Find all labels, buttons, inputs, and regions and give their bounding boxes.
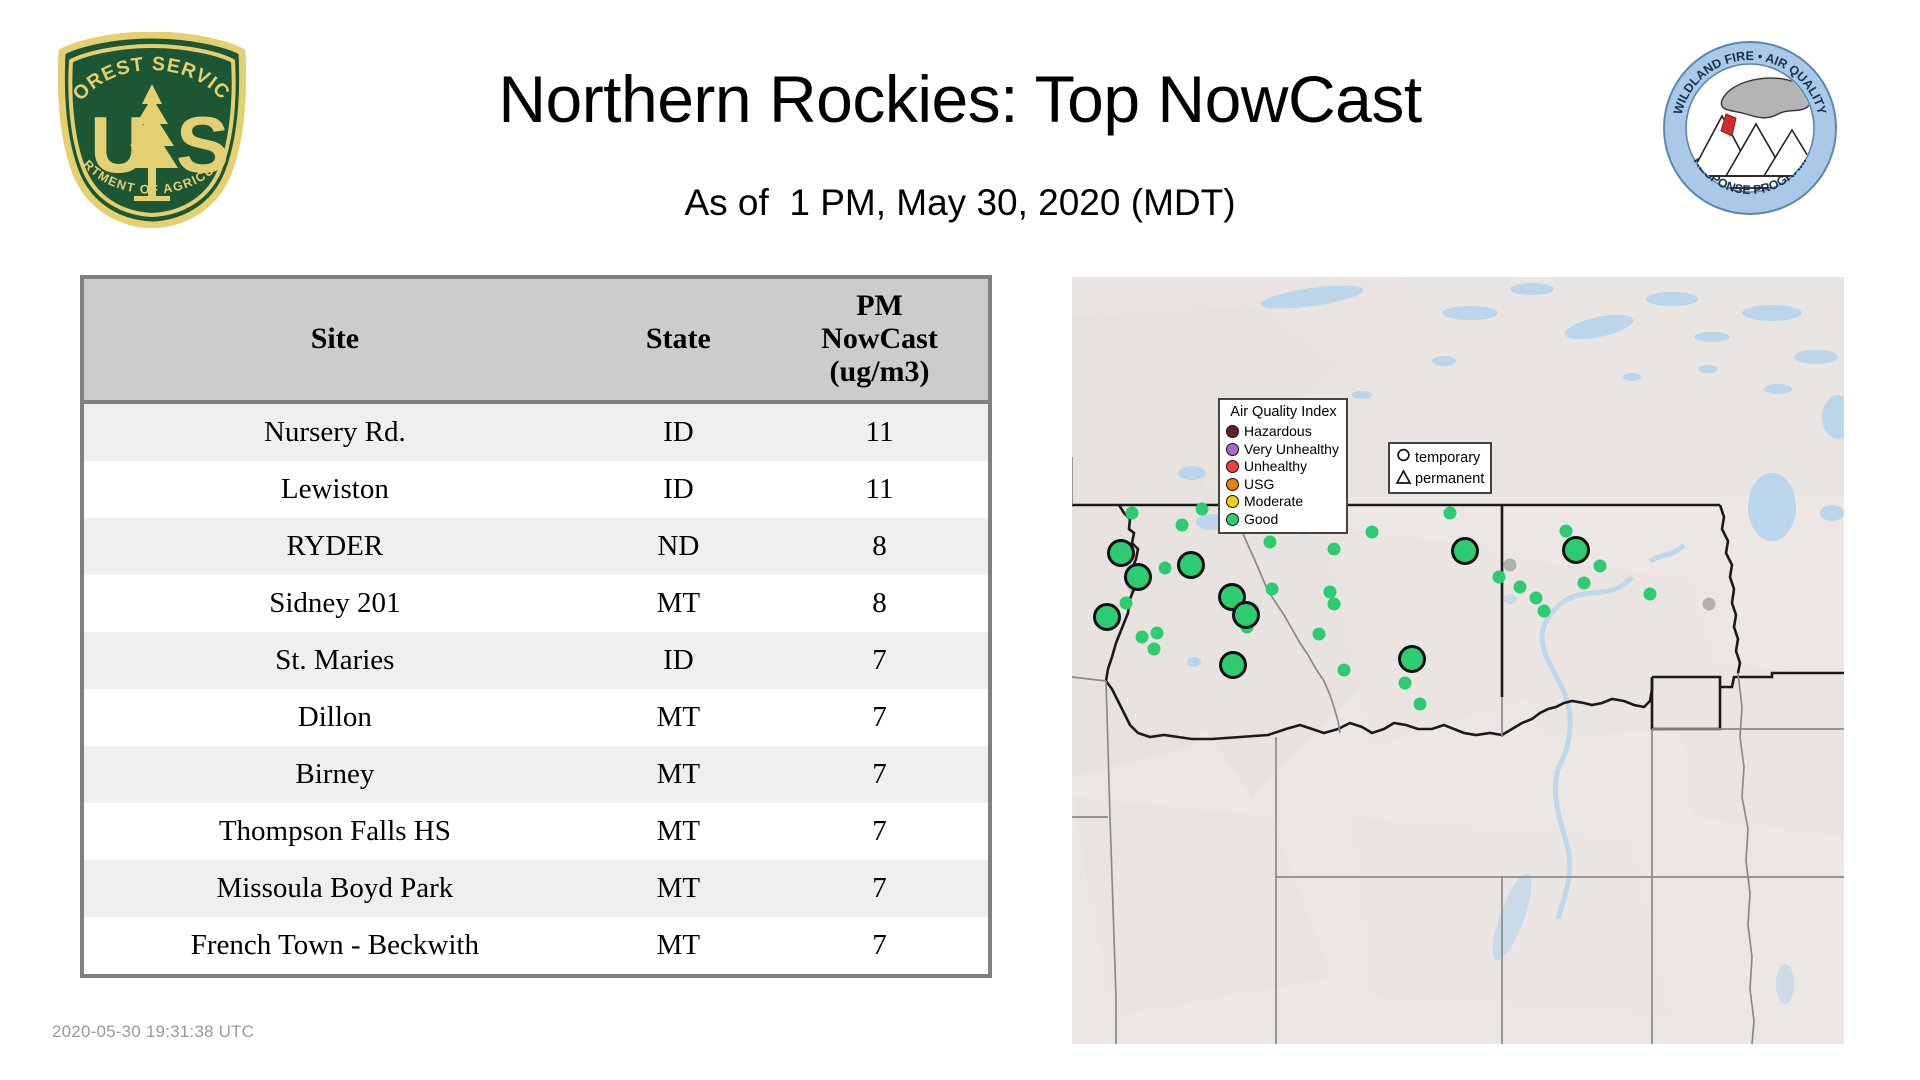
monitor-marker-large[interactable] [1400,647,1425,672]
aqi-legend-item-very-unhealthy: Very Unhealthy [1226,441,1341,459]
monitor-marker-large[interactable] [1564,538,1589,563]
monitor-marker-small[interactable] [1514,581,1527,594]
table-row: Thompson Falls HS MT 7 [84,803,988,860]
page-title: Northern Rockies: Top NowCast [300,60,1620,138]
table-row: Sidney 201 MT 8 [84,575,988,632]
cell-pm: 11 [771,461,988,518]
column-header-site: Site [84,279,586,402]
cell-state: ID [586,402,771,461]
monitor-marker-small[interactable] [1148,643,1161,656]
triangle-icon [1395,469,1412,488]
aqi-legend-item-good: Good [1226,511,1341,529]
cell-site: French Town - Beckwith [84,917,586,974]
table-header-row: Site State PM NowCast (ug/m3) [84,279,988,402]
cell-pm: 7 [771,746,988,803]
circle-icon [1395,448,1412,467]
page-subtitle: As of 1 PM, May 30, 2020 (MDT) [300,180,1620,226]
cell-pm: 7 [771,917,988,974]
monitor-marker-small[interactable] [1328,543,1341,556]
monitor-marker-small[interactable] [1703,598,1716,611]
monitor-marker-small[interactable] [1328,598,1341,611]
cell-site: St. Maries [84,632,586,689]
aqi-swatch-very-unhealthy [1226,443,1239,456]
monitor-marker-small[interactable] [1399,677,1412,690]
cell-pm: 7 [771,689,988,746]
table-row: Missoula Boyd Park MT 7 [84,860,988,917]
top-nowcast-table-panel: Site State PM NowCast (ug/m3) Nursery Rd… [80,275,992,978]
cell-site: Birney [84,746,586,803]
cell-site: Thompson Falls HS [84,803,586,860]
aqi-legend-title: Air Quality Index [1226,404,1341,421]
monitor-marker-small[interactable] [1366,526,1379,539]
aqi-swatch-hazardous [1226,425,1239,438]
cell-pm: 7 [771,860,988,917]
cell-state: MT [586,860,771,917]
table-row: Nursery Rd. ID 11 [84,402,988,461]
monitor-marker-small[interactable] [1159,562,1172,575]
aqi-legend-item-unhealthy: Unhealthy [1226,458,1341,476]
table-row: Lewiston ID 11 [84,461,988,518]
aqi-legend-item-hazardous: Hazardous [1226,423,1341,441]
aqi-legend-item-usg: USG [1226,476,1341,494]
monitor-marker-small[interactable] [1264,536,1277,549]
table-row: RYDER ND 8 [84,518,988,575]
monitor-type-legend-item-permanent: permanent [1395,468,1486,489]
cell-state: MT [586,689,771,746]
top-nowcast-table: Site State PM NowCast (ug/m3) Nursery Rd… [84,279,988,974]
table-row: Birney MT 7 [84,746,988,803]
monitor-marker-large[interactable] [1095,605,1120,630]
monitor-marker-small[interactable] [1338,664,1351,677]
cell-site: Lewiston [84,461,586,518]
aqi-swatch-unhealthy [1226,460,1239,473]
air-quality-monitor-map[interactable] [1072,277,1844,1044]
cell-pm: 8 [771,518,988,575]
table-row: French Town - Beckwith MT 7 [84,917,988,974]
monitor-marker-small[interactable] [1313,628,1326,641]
monitor-marker-small[interactable] [1120,597,1133,610]
timestamp: 2020-05-30 19:31:38 UTC [52,1022,254,1042]
usfs-logo-letter-s: S [176,100,229,189]
column-header-pm-nowcast: PM NowCast (ug/m3) [771,279,988,402]
monitor-marker-small[interactable] [1151,627,1164,640]
monitor-marker-small[interactable] [1126,507,1139,520]
cell-site: Dillon [84,689,586,746]
cell-state: MT [586,917,771,974]
monitor-marker-small[interactable] [1538,605,1551,618]
cell-site: RYDER [84,518,586,575]
cell-pm: 7 [771,632,988,689]
cell-state: MT [586,746,771,803]
monitor-marker-small[interactable] [1324,586,1337,599]
monitor-marker-small[interactable] [1196,503,1209,516]
aqi-swatch-usg [1226,478,1239,491]
monitor-marker-small[interactable] [1176,519,1189,532]
monitor-marker-small[interactable] [1266,583,1279,596]
cell-pm: 8 [771,575,988,632]
monitor-marker-large[interactable] [1126,565,1151,590]
monitor-marker-large[interactable] [1179,553,1204,578]
monitor-marker-small[interactable] [1504,559,1517,572]
monitor-marker-large[interactable] [1234,603,1259,628]
monitor-marker-small[interactable] [1414,698,1427,711]
monitor-type-legend-item-temporary: temporary [1395,447,1486,468]
monitor-marker-small[interactable] [1594,560,1607,573]
monitor-marker-small[interactable] [1530,592,1543,605]
aqi-swatch-good [1226,513,1239,526]
monitor-marker-small[interactable] [1644,588,1657,601]
cell-state: MT [586,803,771,860]
cell-state: ID [586,632,771,689]
cell-state: ID [586,461,771,518]
monitor-marker-small[interactable] [1136,631,1149,644]
monitor-marker-small[interactable] [1578,577,1591,590]
monitor-marker-small[interactable] [1444,507,1457,520]
monitor-marker-large[interactable] [1453,539,1478,564]
monitor-marker-large[interactable] [1221,653,1246,678]
cell-pm: 11 [771,402,988,461]
table-row: Dillon MT 7 [84,689,988,746]
cell-pm: 7 [771,803,988,860]
aqi-swatch-moderate [1226,495,1239,508]
cell-site: Missoula Boyd Park [84,860,586,917]
aqi-legend: Air Quality Index Hazardous Very Unhealt… [1218,398,1348,534]
usfs-shield-logo: FOREST SERVICE DEPARTMENT OF AGRICULTURE… [52,32,252,228]
cell-state: ND [586,518,771,575]
cell-site: Nursery Rd. [84,402,586,461]
aqi-legend-item-moderate: Moderate [1226,493,1341,511]
monitor-marker-large[interactable] [1109,541,1134,566]
header: FOREST SERVICE DEPARTMENT OF AGRICULTURE… [0,0,1920,270]
monitor-type-legend: temporary permanent [1388,442,1492,494]
cell-site: Sidney 201 [84,575,586,632]
monitor-marker-small[interactable] [1493,571,1506,584]
monitor-marker-small[interactable] [1560,525,1573,538]
table-row: St. Maries ID 7 [84,632,988,689]
column-header-state: State [586,279,771,402]
wildland-fire-air-quality-response-program-logo: WILDLAND FIRE • AIR QUALITY RESPONSE PRO… [1660,38,1840,218]
cell-state: MT [586,575,771,632]
